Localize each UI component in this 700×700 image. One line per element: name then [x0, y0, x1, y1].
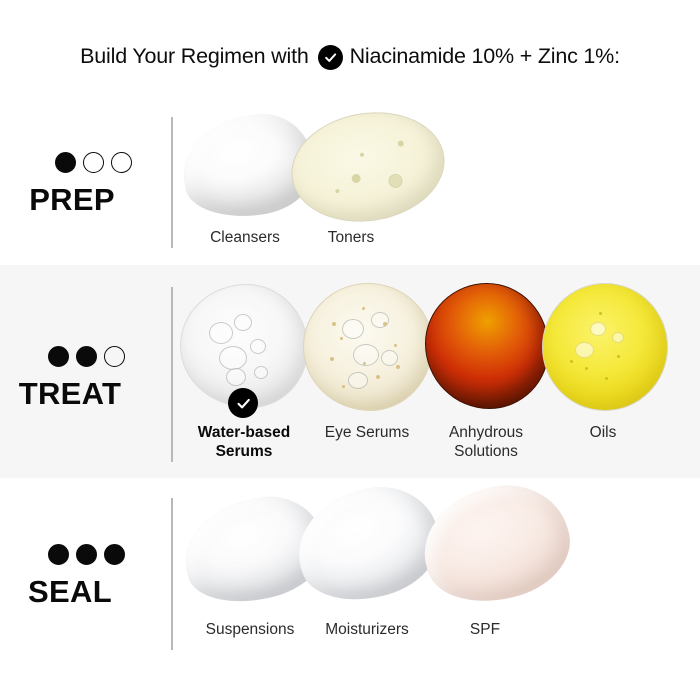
- stage-treat-dots: [48, 346, 125, 367]
- product-label-spf: SPF: [440, 620, 530, 639]
- stage-dot-filled: [76, 544, 97, 565]
- swatch-anhydrous-solutions: [425, 283, 549, 409]
- title-text-before: Build Your Regimen with: [80, 44, 308, 69]
- product-label-anhydrous-solutions: Anhydrous Solutions: [418, 423, 554, 461]
- check-circle-icon: [318, 45, 343, 70]
- divider-treat: [171, 287, 173, 462]
- product-label-toners: Toners: [296, 228, 406, 247]
- regimen-infographic: Build Your Regimen with Niacinamide 10% …: [0, 0, 700, 700]
- product-label-moisturizers: Moisturizers: [304, 620, 430, 639]
- title-text-after: Niacinamide 10% + Zinc 1%:: [350, 44, 620, 69]
- product-label-cleansers: Cleansers: [186, 228, 304, 247]
- divider-seal: [171, 498, 173, 650]
- divider-prep: [171, 117, 173, 248]
- stage-seal-label: SEAL: [0, 574, 150, 610]
- stage-dot-filled: [76, 346, 97, 367]
- product-label-suspensions: Suspensions: [186, 620, 314, 639]
- stage-dot-filled: [104, 544, 125, 565]
- stage-seal-dots: [48, 544, 125, 565]
- stage-dot-filled: [48, 346, 69, 367]
- stage-dot-empty: [111, 152, 132, 173]
- product-label-water-based-serums: Water-based Serums: [178, 423, 310, 461]
- product-label-oils: Oils: [548, 423, 658, 442]
- stage-treat-label: TREAT: [0, 376, 150, 412]
- stage-prep-dots: [55, 152, 132, 173]
- product-label-eye-serums: Eye Serums: [300, 423, 434, 442]
- swatch-eye-serums: [303, 283, 433, 411]
- selected-check-icon: [228, 388, 258, 418]
- stage-prep-label: PREP: [0, 182, 152, 218]
- stage-dot-filled: [55, 152, 76, 173]
- swatch-oils: [542, 283, 668, 411]
- stage-dot-empty: [104, 346, 125, 367]
- stage-dot-empty: [83, 152, 104, 173]
- page-title: Build Your Regimen with Niacinamide 10% …: [0, 44, 700, 69]
- stage-dot-filled: [48, 544, 69, 565]
